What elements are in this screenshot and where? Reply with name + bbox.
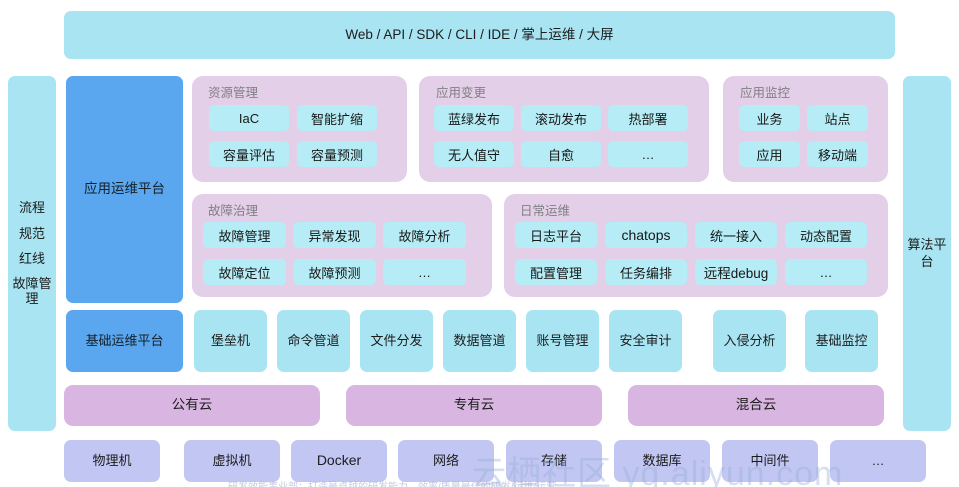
chip-intelligent-scaling[interactable]: 智能扩缩 [297,105,377,131]
left-rail-line-2: 规范 [19,221,45,246]
base-item-data-pipeline[interactable]: 数据管道 [443,310,516,372]
cloud-hybrid[interactable]: 混合云 [628,385,884,426]
chip-mobile[interactable]: 移动端 [807,141,868,167]
cloud-public[interactable]: 公有云 [64,385,320,426]
infra-virtual-machine[interactable]: 虚拟机 [184,440,280,482]
chip-change-more[interactable]: … [608,141,688,167]
chip-dynamic-config[interactable]: 动态配置 [785,222,867,248]
infra-physical-machine[interactable]: 物理机 [64,440,160,482]
infra-storage[interactable]: 存储 [506,440,602,482]
chip-hot-deploy[interactable]: 热部署 [608,105,688,131]
chip-fault-analysis[interactable]: 故障分析 [383,222,466,248]
group-title-resource-management: 资源管理 [208,82,258,101]
application-ops-platform-box: 应用运维平台 [66,76,183,303]
chip-fault-prediction[interactable]: 故障预测 [293,259,376,285]
chip-remote-debug[interactable]: 远程debug [695,259,777,285]
group-title-daily-operations: 日常运维 [520,200,570,219]
chip-unified-access[interactable]: 统一接入 [695,222,777,248]
base-item-security-audit[interactable]: 安全审计 [609,310,682,372]
chip-fault-management[interactable]: 故障管理 [203,222,286,248]
top-access-channels-banner: Web / API / SDK / CLI / IDE / 掌上运维 / 大屏 [64,11,895,59]
base-item-intrusion-analysis[interactable]: 入侵分析 [713,310,786,372]
right-rail-algorithm-platform: 算法平台 [903,76,951,431]
left-rail-line-1: 流程 [19,195,45,220]
group-title-fault-governance: 故障治理 [208,200,258,219]
left-rail-line-4: 故障管理 [8,271,56,312]
base-item-bastion-host[interactable]: 堡垒机 [194,310,267,372]
base-item-basic-monitoring[interactable]: 基础监控 [805,310,878,372]
chip-anomaly-detection[interactable]: 异常发现 [293,222,376,248]
base-ops-platform-box: 基础运维平台 [66,310,183,372]
group-title-application-change: 应用变更 [436,82,486,101]
chip-iac[interactable]: IaC [209,105,289,131]
chip-task-orchestration[interactable]: 任务编排 [605,259,687,285]
chip-self-healing[interactable]: 自愈 [521,141,601,167]
chip-capacity-prediction[interactable]: 容量预测 [297,141,377,167]
base-item-file-distribution[interactable]: 文件分发 [360,310,433,372]
chip-chatops[interactable]: chatops [605,222,687,248]
chip-site[interactable]: 站点 [807,105,868,131]
left-rail-process-governance: 流程 规范 红线 故障管理 [8,76,56,431]
chip-fault-more[interactable]: … [383,259,466,285]
architecture-diagram: Web / API / SDK / CLI / IDE / 掌上运维 / 大屏 … [0,0,959,487]
chip-log-platform[interactable]: 日志平台 [515,222,597,248]
chip-application[interactable]: 应用 [739,141,800,167]
base-item-command-pipeline[interactable]: 命令管道 [277,310,350,372]
infra-middleware[interactable]: 中间件 [722,440,818,482]
group-title-application-monitoring: 应用监控 [740,82,790,101]
chip-config-management[interactable]: 配置管理 [515,259,597,285]
chip-capacity-assessment[interactable]: 容量评估 [209,141,289,167]
chip-fault-localization[interactable]: 故障定位 [203,259,286,285]
infra-docker[interactable]: Docker [291,440,387,482]
infra-database[interactable]: 数据库 [614,440,710,482]
cloud-private[interactable]: 专有云 [346,385,602,426]
left-rail-line-3: 红线 [19,246,45,271]
chip-rolling-release[interactable]: 滚动发布 [521,105,601,131]
base-item-account-management[interactable]: 账号管理 [526,310,599,372]
chip-daily-more[interactable]: … [785,259,867,285]
infra-more[interactable]: … [830,440,926,482]
chip-business[interactable]: 业务 [739,105,800,131]
chip-unattended[interactable]: 无人值守 [434,141,514,167]
chip-blue-green-release[interactable]: 蓝绿发布 [434,105,514,131]
infra-network[interactable]: 网络 [398,440,494,482]
